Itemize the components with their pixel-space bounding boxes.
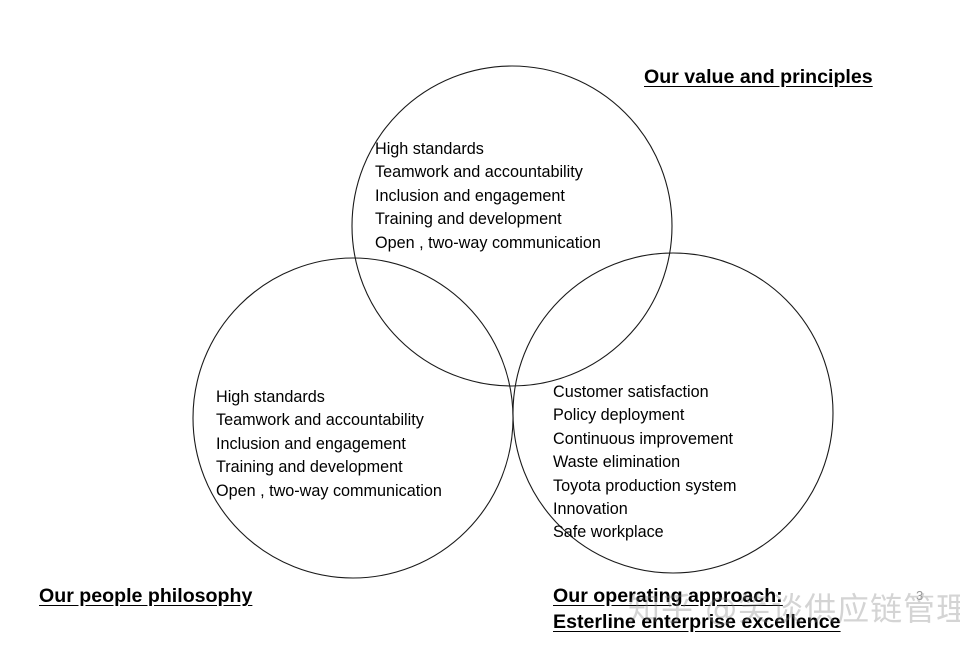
top-circle-item: Open , two-way communication bbox=[375, 232, 601, 255]
top-circle-item: Teamwork and accountability bbox=[375, 161, 601, 184]
right-circle-item: Policy deployment bbox=[553, 404, 737, 427]
right-circle-item: Customer satisfaction bbox=[553, 381, 737, 404]
left-circle-item: Training and development bbox=[216, 456, 442, 479]
heading-operating-line-2: Esterline enterprise excellence bbox=[553, 609, 841, 635]
page-number: 3 bbox=[916, 588, 923, 603]
left-circle-item: High standards bbox=[216, 386, 442, 409]
left-circle-item: Teamwork and accountability bbox=[216, 409, 442, 432]
top-circle-item: Training and development bbox=[375, 208, 601, 231]
right-circle-item: Toyota production system bbox=[553, 475, 737, 498]
heading-our-operating-approach: Our operating approach: Esterline enterp… bbox=[553, 583, 841, 635]
right-circle-item: Safe workplace bbox=[553, 521, 737, 544]
heading-our-people-philosophy: Our people philosophy bbox=[39, 583, 252, 609]
left-circle-item-list: High standards Teamwork and accountabili… bbox=[216, 386, 442, 503]
top-circle-item: High standards bbox=[375, 138, 601, 161]
heading-operating-line-1: Our operating approach: bbox=[553, 583, 841, 609]
right-circle-item: Innovation bbox=[553, 498, 737, 521]
right-circle-item-list: Customer satisfaction Policy deployment … bbox=[553, 381, 737, 545]
right-circle-item: Continuous improvement bbox=[553, 428, 737, 451]
slide-canvas: High standards Teamwork and accountabili… bbox=[0, 0, 960, 652]
left-circle-item: Open , two-way communication bbox=[216, 480, 442, 503]
right-circle-item: Waste elimination bbox=[553, 451, 737, 474]
left-circle-item: Inclusion and engagement bbox=[216, 433, 442, 456]
venn-diagram bbox=[0, 0, 960, 652]
top-circle-item: Inclusion and engagement bbox=[375, 185, 601, 208]
top-circle-item-list: High standards Teamwork and accountabili… bbox=[375, 138, 601, 255]
heading-our-value-and-principles: Our value and principles bbox=[644, 64, 873, 90]
